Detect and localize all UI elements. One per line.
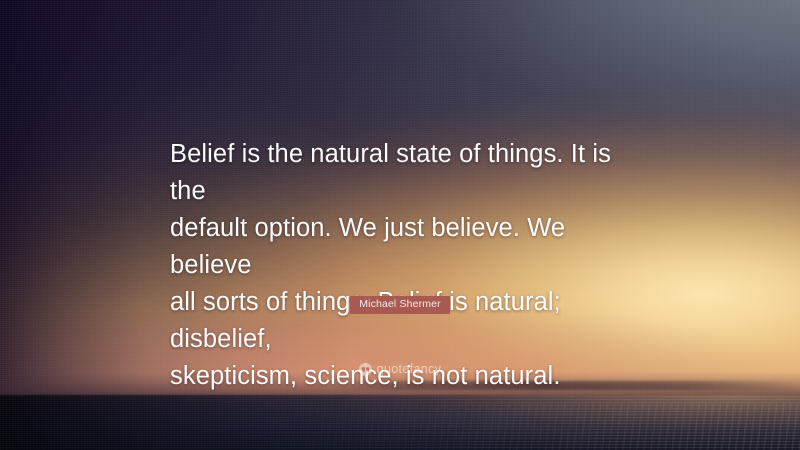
brand-watermark[interactable]: quotefancy [0,363,800,376]
quote-mark-icon [359,363,372,376]
author-name-badge[interactable]: Michael Shermer [350,296,450,314]
author-attribution: Michael Shermer [0,294,800,314]
brand-wordmark: quotefancy [377,363,442,376]
quote-content: Belief is the natural state of things. I… [0,0,800,450]
quote-body-text: Belief is the natural state of things. I… [170,136,650,395]
quote-image-canvas: Belief is the natural state of things. I… [0,0,800,450]
